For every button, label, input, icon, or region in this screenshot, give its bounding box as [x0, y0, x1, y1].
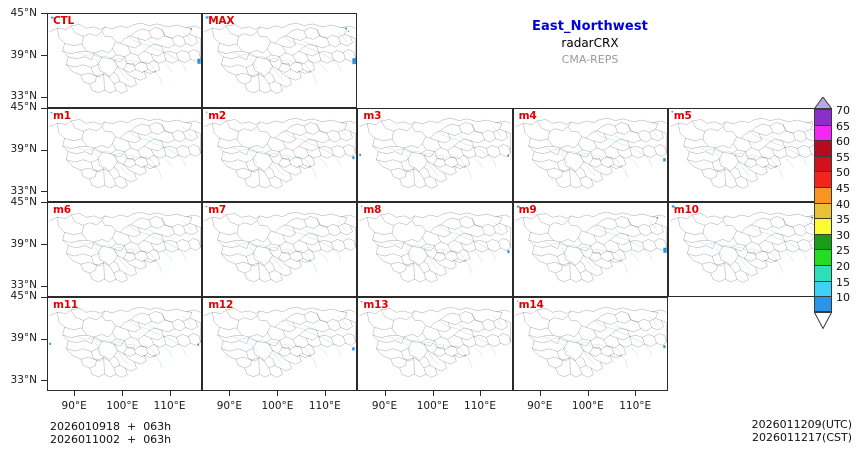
colorbar-label-25: 25 — [836, 245, 850, 256]
map-panel-m8[interactable]: m8 — [357, 202, 512, 297]
map-panel-ctl[interactable]: CTL — [47, 13, 202, 108]
map-panel-m14[interactable]: m14 — [513, 297, 668, 392]
lat-tick-label: 33°N — [11, 375, 37, 386]
panel-label-m5: m5 — [674, 110, 692, 122]
map-artwork — [203, 14, 356, 107]
panel-row-4: m11m12m13m14 — [47, 297, 668, 392]
map-panel-max[interactable]: MAX — [202, 13, 357, 108]
colorbar-label-10: 10 — [836, 292, 850, 303]
colorbar: 70656055504540353025201510 — [812, 97, 858, 342]
lon-tick-label: 110°E — [142, 400, 198, 412]
map-artwork — [203, 298, 356, 391]
map-artwork — [514, 109, 667, 202]
colorbar-label-70: 70 — [836, 105, 850, 116]
colorbar-segment-30 — [814, 234, 832, 250]
colorbar-overflow-arrow-icon — [814, 97, 832, 109]
lon-tick — [122, 391, 123, 396]
map-artwork — [203, 109, 356, 202]
colorbar-label-35: 35 — [836, 214, 850, 225]
map-panel-m2[interactable]: m2 — [202, 108, 357, 203]
map-artwork — [358, 298, 511, 391]
map-artwork — [514, 203, 667, 296]
lon-tick — [325, 391, 326, 396]
map-panel-m5[interactable]: m5 — [668, 108, 823, 203]
colorbar-segments — [814, 109, 832, 312]
model-subtitle: CMA-REPS — [440, 52, 740, 68]
colorbar-label-50: 50 — [836, 167, 850, 178]
map-panel-m12[interactable]: m12 — [202, 297, 357, 392]
lon-tick-label: 110°E — [607, 400, 663, 412]
colorbar-label-55: 55 — [836, 152, 850, 163]
colorbar-label-45: 45 — [836, 183, 850, 194]
lon-tick — [635, 391, 636, 396]
map-panel-m9[interactable]: m9 — [513, 202, 668, 297]
lon-tick-label: 110°E — [297, 400, 353, 412]
lon-tick — [385, 391, 386, 396]
panel-label-max: MAX — [208, 15, 234, 27]
map-artwork — [48, 298, 201, 391]
lat-tick-label: 45°N — [11, 8, 37, 19]
map-panel-m3[interactable]: m3 — [357, 108, 512, 203]
lat-tick-label: 39°N — [11, 239, 37, 250]
map-artwork — [669, 109, 822, 202]
lon-tick — [74, 391, 75, 396]
lat-tick-label: 39°N — [11, 144, 37, 155]
lon-tick — [229, 391, 230, 396]
lon-tick-label: 110°E — [452, 400, 508, 412]
longitude-axis: 90°E100°E110°E90°E100°E110°E90°E100°E110… — [47, 391, 808, 415]
lat-tick-label: 39°N — [11, 50, 37, 61]
map-artwork — [48, 14, 201, 107]
colorbar-underflow-arrow-icon — [814, 312, 832, 329]
lat-tick-label: 45°N — [11, 102, 37, 113]
colorbar-segment-45 — [814, 187, 832, 203]
colorbar-segment-50 — [814, 171, 832, 187]
panel-label-m6: m6 — [53, 204, 71, 216]
panel-label-m1: m1 — [53, 110, 71, 122]
lon-tick — [540, 391, 541, 396]
map-artwork — [48, 109, 201, 202]
colorbar-segment-25 — [814, 249, 832, 265]
title-block: East_Northwest radarCRX CMA-REPS — [440, 18, 740, 68]
map-artwork — [48, 203, 201, 296]
colorbar-label-15: 15 — [836, 277, 850, 288]
panel-label-m13: m13 — [363, 299, 388, 311]
variable-subtitle: radarCRX — [440, 35, 740, 52]
colorbar-label-40: 40 — [836, 199, 850, 210]
panel-label-ctl: CTL — [53, 15, 74, 27]
footer-init-times: 2026010918 + 063h 2026011002 + 063h — [50, 420, 171, 446]
colorbar-label-60: 60 — [836, 136, 850, 147]
lon-tick — [170, 391, 171, 396]
map-panel-m11[interactable]: m11 — [47, 297, 202, 392]
lon-tick — [433, 391, 434, 396]
footer-valid-times: 2026011209(UTC) 2026011217(CST) — [752, 418, 852, 444]
footer-init-line-1: 2026010918 + 063h — [50, 420, 171, 433]
colorbar-segment-60 — [814, 140, 832, 156]
panel-label-m8: m8 — [363, 204, 381, 216]
map-panel-m10[interactable]: m10 — [668, 202, 823, 297]
map-panel-m7[interactable]: m7 — [202, 202, 357, 297]
latitude-axis: 45°N39°N33°N45°N39°N33°N45°N39°N33°N45°N… — [0, 0, 47, 400]
map-artwork — [669, 203, 822, 296]
map-artwork — [358, 203, 511, 296]
map-artwork — [514, 298, 667, 391]
panel-row-3: m6m7m8m9m10 — [47, 202, 823, 297]
lat-tick-label: 45°N — [11, 291, 37, 302]
colorbar-segment-35 — [814, 218, 832, 234]
page-title: East_Northwest — [440, 18, 740, 35]
colorbar-segment-20 — [814, 265, 832, 281]
colorbar-segment-55 — [814, 156, 832, 172]
footer-init-line-2: 2026011002 + 063h — [50, 433, 171, 446]
colorbar-segment-65 — [814, 125, 832, 141]
colorbar-label-30: 30 — [836, 230, 850, 241]
map-panel-m6[interactable]: m6 — [47, 202, 202, 297]
colorbar-segment-10 — [814, 296, 832, 312]
panel-label-m11: m11 — [53, 299, 78, 311]
map-artwork — [358, 109, 511, 202]
lat-tick-label: 45°N — [11, 197, 37, 208]
panel-row-2: m1m2m3m4m5 — [47, 108, 823, 203]
panel-label-m2: m2 — [208, 110, 226, 122]
footer-valid-cst: 2026011217(CST) — [752, 431, 852, 444]
panel-row-1: CTLMAX — [47, 13, 357, 108]
colorbar-label-65: 65 — [836, 121, 850, 132]
colorbar-label-20: 20 — [836, 261, 850, 272]
map-panel-m4[interactable]: m4 — [513, 108, 668, 203]
panel-grid: CTLMAXm1m2m3m4m5m6m7m8m9m10m11m12m13m14 — [47, 13, 808, 391]
map-panel-m1[interactable]: m1 — [47, 108, 202, 203]
lon-tick — [480, 391, 481, 396]
footer-valid-utc: 2026011209(UTC) — [752, 418, 852, 431]
colorbar-segment-15 — [814, 281, 832, 297]
colorbar-segment-70 — [814, 109, 832, 125]
panel-label-m3: m3 — [363, 110, 381, 122]
lat-tick-label: 33°N — [11, 186, 37, 197]
map-artwork — [203, 203, 356, 296]
panel-label-m14: m14 — [519, 299, 544, 311]
panel-label-m12: m12 — [208, 299, 233, 311]
panel-label-m7: m7 — [208, 204, 226, 216]
lon-tick — [588, 391, 589, 396]
panel-label-m10: m10 — [674, 204, 699, 216]
panel-label-m9: m9 — [519, 204, 537, 216]
lat-tick-label: 39°N — [11, 333, 37, 344]
colorbar-segment-40 — [814, 203, 832, 219]
panel-label-m4: m4 — [519, 110, 537, 122]
lon-tick — [277, 391, 278, 396]
map-panel-m13[interactable]: m13 — [357, 297, 512, 392]
